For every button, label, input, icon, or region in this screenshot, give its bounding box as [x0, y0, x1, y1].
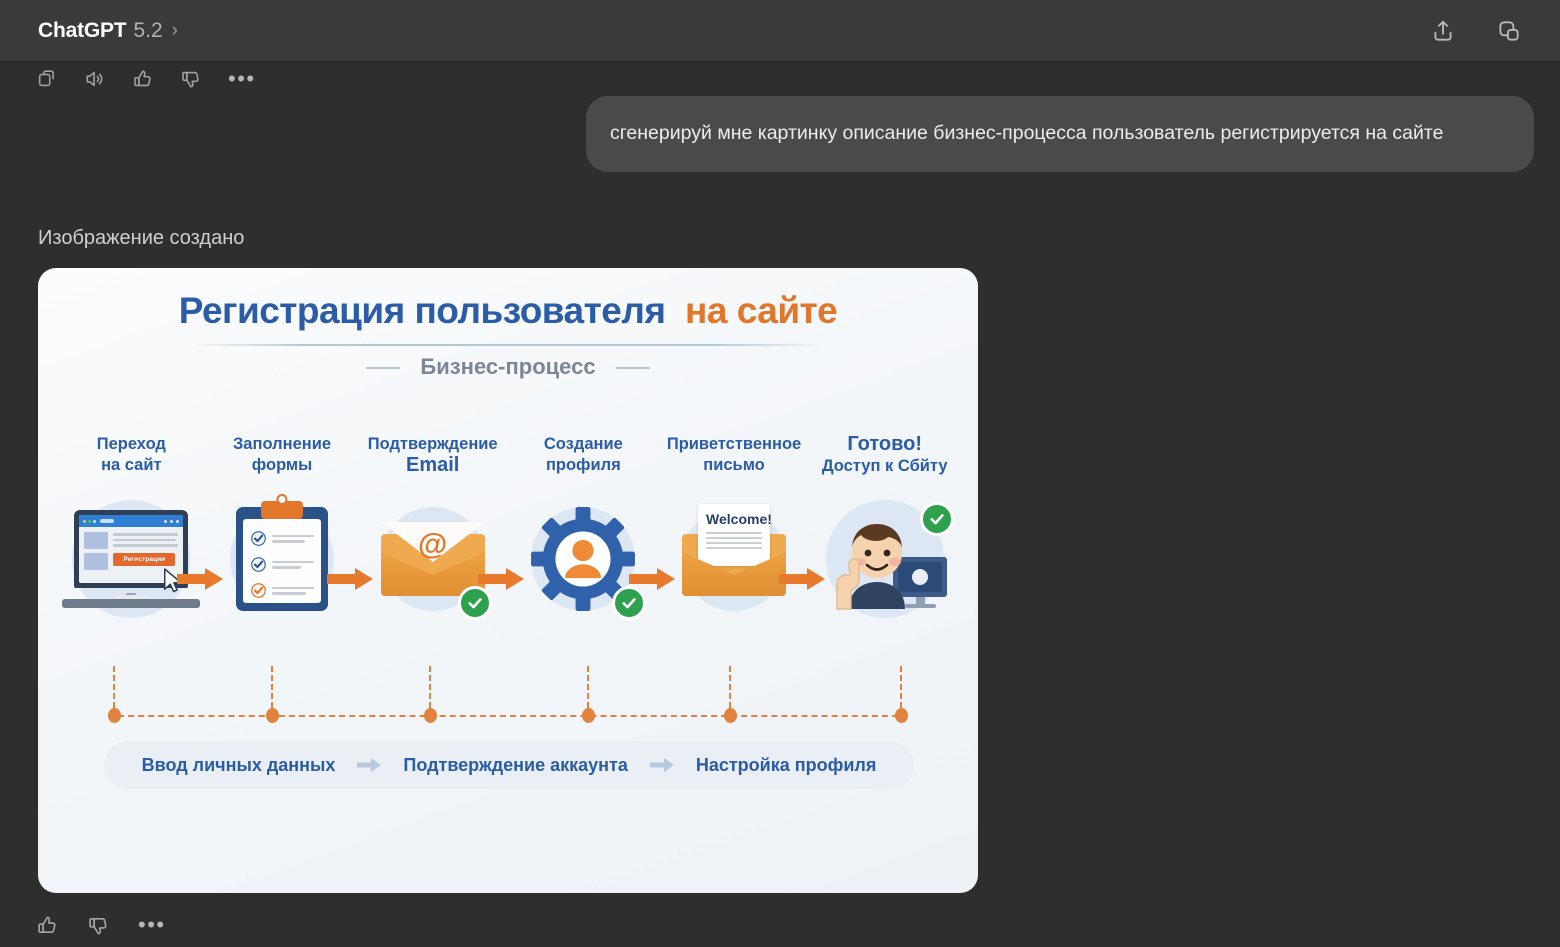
message-actions-top: ••• [36, 62, 256, 96]
title-divider [188, 344, 828, 346]
step-label-line2: профиля [544, 455, 623, 476]
subtitle-dash-left [366, 367, 400, 369]
flow-arrow-icon [177, 568, 223, 590]
brand-name: ChatGPT [38, 19, 126, 43]
registration-button-in-art: Регистрация [113, 553, 175, 566]
welcome-envelope-illustration: Welcome! [682, 522, 786, 596]
timeline-node [582, 708, 595, 723]
app-top-bar: ChatGPT 5.2 › [0, 0, 1560, 62]
thumbs-down-icon[interactable] [180, 68, 202, 90]
step-label-line1: Переход [97, 435, 166, 453]
timeline-node [424, 708, 437, 723]
check-blue-icon [251, 531, 266, 546]
step-label-line2: на сайт [97, 455, 166, 476]
check-blue-icon [251, 557, 266, 572]
copy-icon[interactable] [36, 68, 58, 90]
flow-arrow-icon [327, 568, 373, 590]
person-thumbs-up-icon [810, 500, 960, 618]
summary-item-2: Подтверждение аккаунта [403, 755, 627, 776]
poster-title-primary: Регистрация пользователя [179, 290, 666, 331]
step-label: Создание профиля [544, 434, 623, 482]
welcome-letter: Welcome! [698, 504, 770, 566]
poster-subtitle-row: Бизнес-процесс [38, 354, 978, 380]
process-step-welcome-email: Приветственное письмо Welcome! [659, 434, 810, 659]
envelope-illustration: @ [381, 522, 485, 596]
at-symbol-icon: @ [418, 530, 447, 560]
envelope-welcome-icon: Welcome! [659, 500, 809, 618]
process-step-create-profile: Создание профиля [508, 434, 659, 659]
poster-title-accent: на сайте [685, 290, 837, 331]
process-timeline [98, 656, 918, 726]
pill-arrow-icon [357, 758, 381, 772]
check-orange-icon [251, 583, 266, 598]
more-options-icon[interactable]: ••• [228, 73, 256, 85]
laptop-illustration: Регистрация [62, 510, 200, 608]
step-label-line2: письмо [667, 455, 801, 476]
step-label: Подтверждение Email [368, 434, 498, 482]
envelope-at-icon: @ [358, 500, 508, 618]
step-label-line1: Готово! [847, 433, 922, 455]
browser-chrome-bar [79, 515, 183, 527]
step-label-line1: Приветственное [667, 435, 801, 453]
step-label-line2: Email [368, 455, 498, 476]
clipboard-checklist-icon [207, 500, 357, 618]
model-version: 5.2 [133, 19, 162, 43]
process-step-confirm-email: Подтверждение Email @ [357, 434, 508, 659]
user-message-bubble: сгенерируй мне картинку описание бизнес-… [586, 96, 1534, 172]
brand-model-selector[interactable]: ChatGPT 5.2 › [38, 19, 178, 43]
summary-pill: Ввод личных данных Подтверждение аккаунт… [104, 741, 914, 789]
timeline-line [108, 715, 908, 717]
thumbs-up-icon[interactable] [132, 68, 154, 90]
timeline-node [724, 708, 737, 723]
timeline-node [895, 708, 908, 723]
chevron-right-icon: › [172, 20, 178, 42]
subtitle-dash-right [616, 367, 650, 369]
step-label-line1: Создание [544, 435, 623, 453]
flow-arrow-icon [779, 568, 825, 590]
thumbs-down-icon[interactable] [87, 914, 110, 937]
step-label-line2: Доступ к Сбйту [822, 456, 948, 477]
step-label: Заполнение формы [233, 434, 331, 482]
summary-item-1: Ввод личных данных [142, 755, 336, 776]
sidebar-toggle-icon[interactable] [1496, 18, 1522, 44]
process-steps: Переход на сайт [56, 434, 960, 659]
poster: Регистрация пользователя на сайте Бизнес… [38, 268, 978, 893]
welcome-letter-text: Welcome! [706, 511, 762, 527]
step-label-line2: формы [233, 455, 331, 476]
timeline-node [266, 708, 279, 723]
process-step-fill-form: Заполнение формы [207, 434, 358, 659]
read-aloud-icon[interactable] [84, 68, 106, 90]
more-options-icon[interactable]: ••• [138, 919, 166, 931]
step-label: Приветственное письмо [667, 434, 801, 482]
step-label: Готово! Доступ к Сбйту [822, 434, 948, 482]
process-step-done: Готово! Доступ к Сбйту [809, 434, 960, 659]
share-icon[interactable] [1430, 18, 1456, 44]
gear-user-icon [508, 500, 658, 618]
pill-arrow-icon [650, 758, 674, 772]
poster-subtitle: Бизнес-процесс [420, 354, 595, 379]
flow-arrow-icon [478, 568, 524, 590]
image-created-status: Изображение создано [38, 227, 244, 250]
generated-image-card[interactable]: Регистрация пользователя на сайте Бизнес… [38, 268, 978, 893]
laptop-browser-registration-icon: Регистрация [56, 500, 206, 618]
timeline-node [108, 708, 121, 723]
status-check-badge [612, 586, 646, 620]
laptop-base [62, 599, 200, 608]
status-check-badge [920, 502, 954, 536]
status-check-badge [458, 586, 492, 620]
step-label-line1: Подтверждение [368, 435, 498, 453]
poster-title: Регистрация пользователя на сайте [38, 290, 978, 332]
message-actions-bottom: ••• [36, 908, 166, 942]
process-step-site-visit: Переход на сайт [56, 434, 207, 659]
step-label: Переход на сайт [97, 434, 166, 482]
clipboard-illustration [236, 507, 328, 611]
step-label-line1: Заполнение [233, 435, 331, 453]
summary-item-3: Настройка профиля [696, 755, 877, 776]
thumbs-up-icon[interactable] [36, 914, 59, 937]
